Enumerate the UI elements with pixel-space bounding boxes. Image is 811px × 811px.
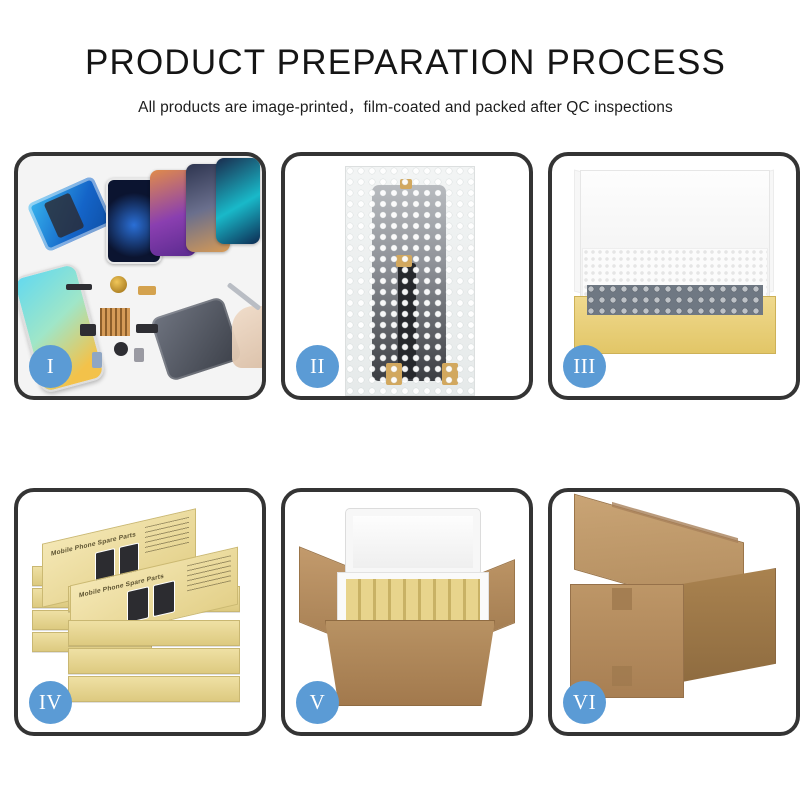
- step-panel-5: V: [281, 488, 533, 736]
- copper-coil-part: [110, 276, 127, 293]
- step-panel-4: Mobile Phone Spare Parts Mobile Phone Sp…: [14, 488, 266, 736]
- box-art-screen-b1: [127, 586, 149, 623]
- spare-part-flex-cable: [136, 324, 158, 333]
- kraft-box-tray: [574, 296, 776, 354]
- step-panel-1: I: [14, 152, 266, 400]
- bubble-texture: [346, 167, 474, 395]
- spare-part-sensor: [92, 352, 102, 368]
- tweezers-icon: [227, 282, 262, 311]
- phone-screen-4: [216, 158, 260, 244]
- step-panel-6: VI: [548, 488, 800, 736]
- carton-tape-upper: [612, 588, 632, 610]
- step-badge-2: II: [296, 345, 339, 388]
- step-badge-4: IV: [29, 681, 72, 724]
- foam-cooler-lid: [345, 508, 481, 576]
- step-badge-6: VI: [563, 681, 606, 724]
- steps-grid: I II: [14, 152, 800, 736]
- phone-back-housing: [150, 296, 243, 382]
- product-preparation-infographic: PRODUCT PREPARATION PROCESS All products…: [0, 0, 811, 811]
- spare-part-speaker: [114, 342, 128, 356]
- spare-part-strip: [66, 284, 92, 290]
- box-spec-text-upper: [145, 517, 189, 553]
- stacked-box-front-2: [68, 620, 240, 646]
- bubble-wrapped-contents: [587, 285, 763, 315]
- sealed-carton-side: [682, 568, 776, 682]
- stacked-box-front-3: [68, 648, 240, 674]
- box-spec-text-lower: [187, 555, 231, 591]
- step-badge-3: III: [563, 345, 606, 388]
- stacked-box-front-4: [68, 676, 240, 702]
- step-panel-3: III: [548, 152, 800, 400]
- box-art-screen-b2: [153, 580, 175, 617]
- step-badge-5: V: [296, 681, 339, 724]
- packed-yellow-boxes: [346, 579, 480, 627]
- spare-part-connector: [80, 324, 96, 336]
- carton-tape-lower: [612, 666, 632, 686]
- page-subtitle: All products are image-printed，film-coat…: [0, 95, 811, 117]
- page-title: PRODUCT PREPARATION PROCESS: [0, 44, 811, 83]
- carton-body: [325, 620, 495, 706]
- spare-part-button: [134, 348, 144, 362]
- bubble-wrap-bag: [345, 166, 475, 396]
- spare-part-gold-clip: [138, 286, 156, 295]
- chip-grid-part: [100, 308, 130, 336]
- step-panel-2: II: [281, 152, 533, 400]
- step-badge-1: I: [29, 345, 72, 388]
- screen-protector-film: [27, 176, 114, 253]
- header: PRODUCT PREPARATION PROCESS All products…: [0, 0, 811, 117]
- technician-hand: [232, 306, 262, 368]
